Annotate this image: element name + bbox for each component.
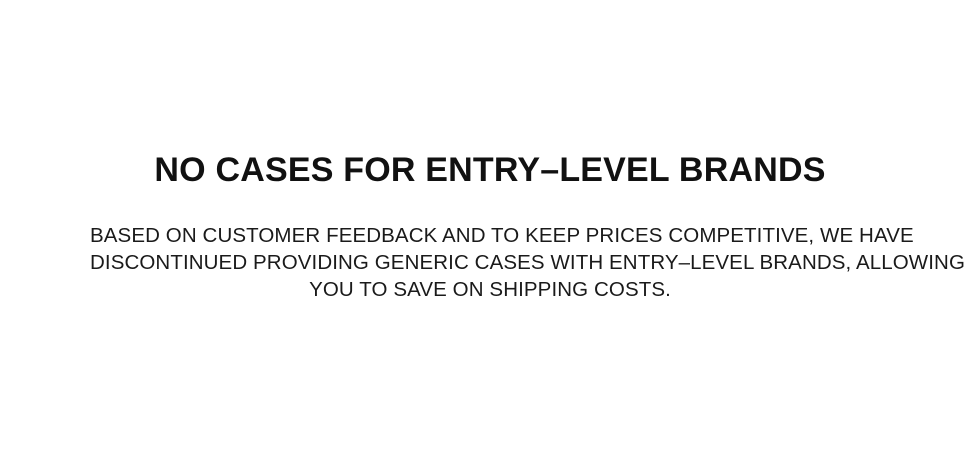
description-line-3: YOU TO SAVE ON SHIPPING COSTS. (90, 276, 890, 303)
page-title: NO CASES FOR ENTRY–LEVEL BRANDS (0, 148, 980, 192)
banner-description: BASED ON CUSTOMER FEEDBACK AND TO KEEP P… (90, 222, 890, 303)
description-line-1: BASED ON CUSTOMER FEEDBACK AND TO KEEP P… (90, 222, 890, 249)
description-line-2: DISCONTINUED PROVIDING GENERIC CASES WIT… (90, 249, 890, 276)
promo-banner: NO CASES FOR ENTRY–LEVEL BRANDS BASED ON… (0, 0, 980, 450)
